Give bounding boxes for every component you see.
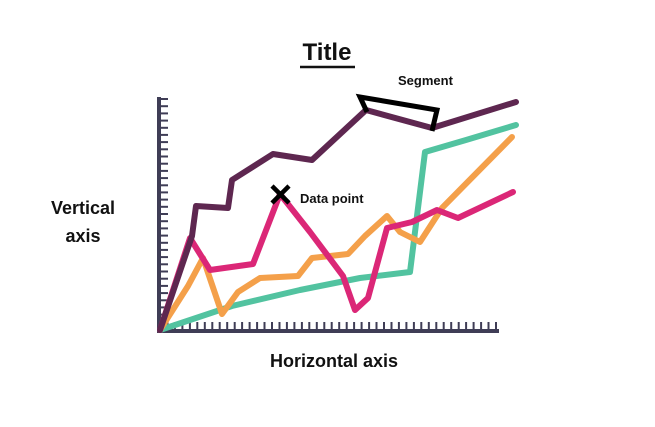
line-chart: Title Segment Data point Vertical axis: [0, 0, 655, 427]
vertical-axis-label-line1: Vertical: [51, 198, 115, 218]
chart-container: Title Segment Data point Vertical axis: [0, 0, 655, 427]
chart-title: Title: [303, 39, 352, 66]
data-point-annotation-label: Data point: [300, 191, 364, 206]
segment-annotation-label: Segment: [398, 73, 454, 88]
horizontal-axis-label: Horizontal axis: [270, 351, 398, 371]
vertical-axis-label-line2: axis: [65, 226, 100, 246]
